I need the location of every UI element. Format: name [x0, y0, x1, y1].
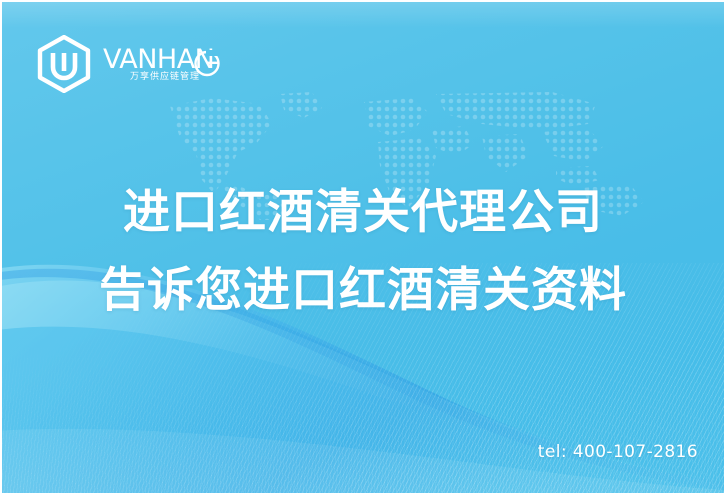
- logo-wordmark: VANHAN 万享供应链管理: [103, 41, 221, 87]
- headline-line-2: 告诉您进口红酒清关资料: [2, 252, 724, 330]
- contact-phone[interactable]: tel: 400-107-2816: [538, 442, 698, 462]
- company-logo[interactable]: VANHAN 万享供应链管理: [36, 35, 221, 93]
- logo-subtitle-text: 万享供应链管理: [130, 70, 200, 82]
- headline: 进口红酒清关代理公司 告诉您进口红酒清关资料: [2, 174, 724, 330]
- vanhang-hexagon-u-mark-icon: [36, 35, 92, 93]
- headline-line-1: 进口红酒清关代理公司: [2, 174, 724, 252]
- promo-banner: VANHAN 万享供应链管理 进口红酒清关代理公司 告诉您进口红酒清关资料 te…: [0, 0, 726, 495]
